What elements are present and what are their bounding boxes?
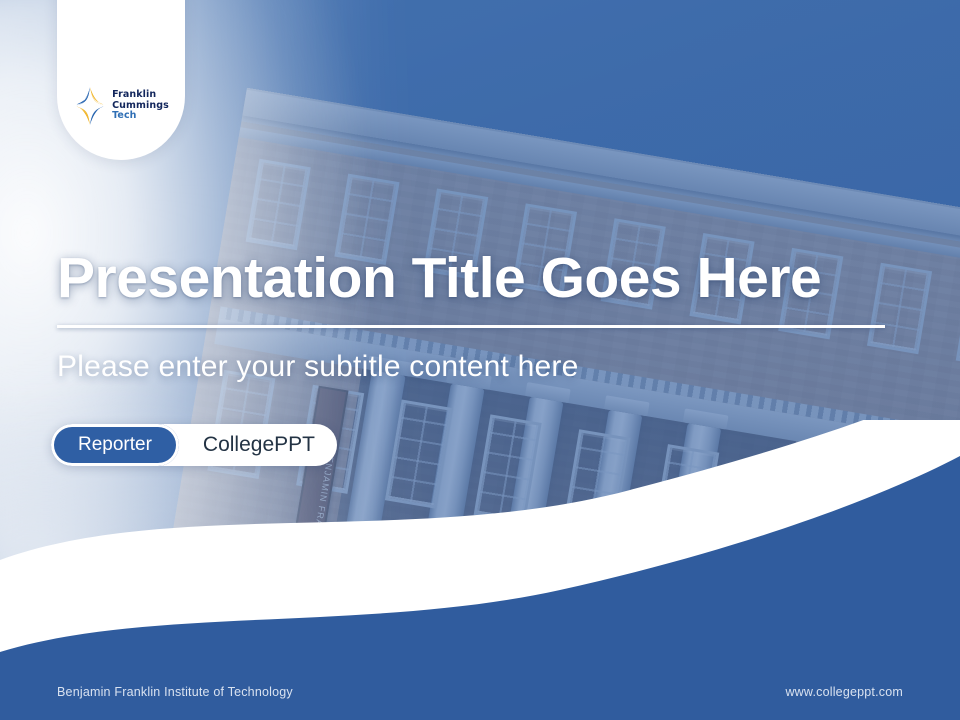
logo-wordmark: Franklin Cummings Tech	[112, 90, 169, 122]
footer-website-url[interactable]: www.collegeppt.com	[785, 685, 903, 699]
reporter-value[interactable]: CollegePPT	[179, 433, 315, 457]
footer-institution-name: Benjamin Franklin Institute of Technolog…	[57, 685, 293, 699]
logo-lockup: Franklin Cummings Tech	[73, 86, 169, 126]
four-pointed-star-logo-icon	[73, 86, 107, 126]
title-divider	[57, 325, 885, 328]
page-title: Presentation Title Goes Here	[57, 249, 887, 309]
reporter-label-badge[interactable]: Reporter	[51, 424, 179, 466]
presentation-title-slide: BENJAMIN FRANKLIN INSTITUTE OF TECHNOLOG…	[0, 0, 960, 720]
reporter-pill[interactable]: Reporter CollegePPT	[51, 424, 337, 466]
logo-line-tech: Tech	[112, 111, 169, 122]
page-subtitle: Please enter your subtitle content here	[57, 350, 578, 384]
logo-badge: Franklin Cummings Tech	[57, 0, 185, 160]
